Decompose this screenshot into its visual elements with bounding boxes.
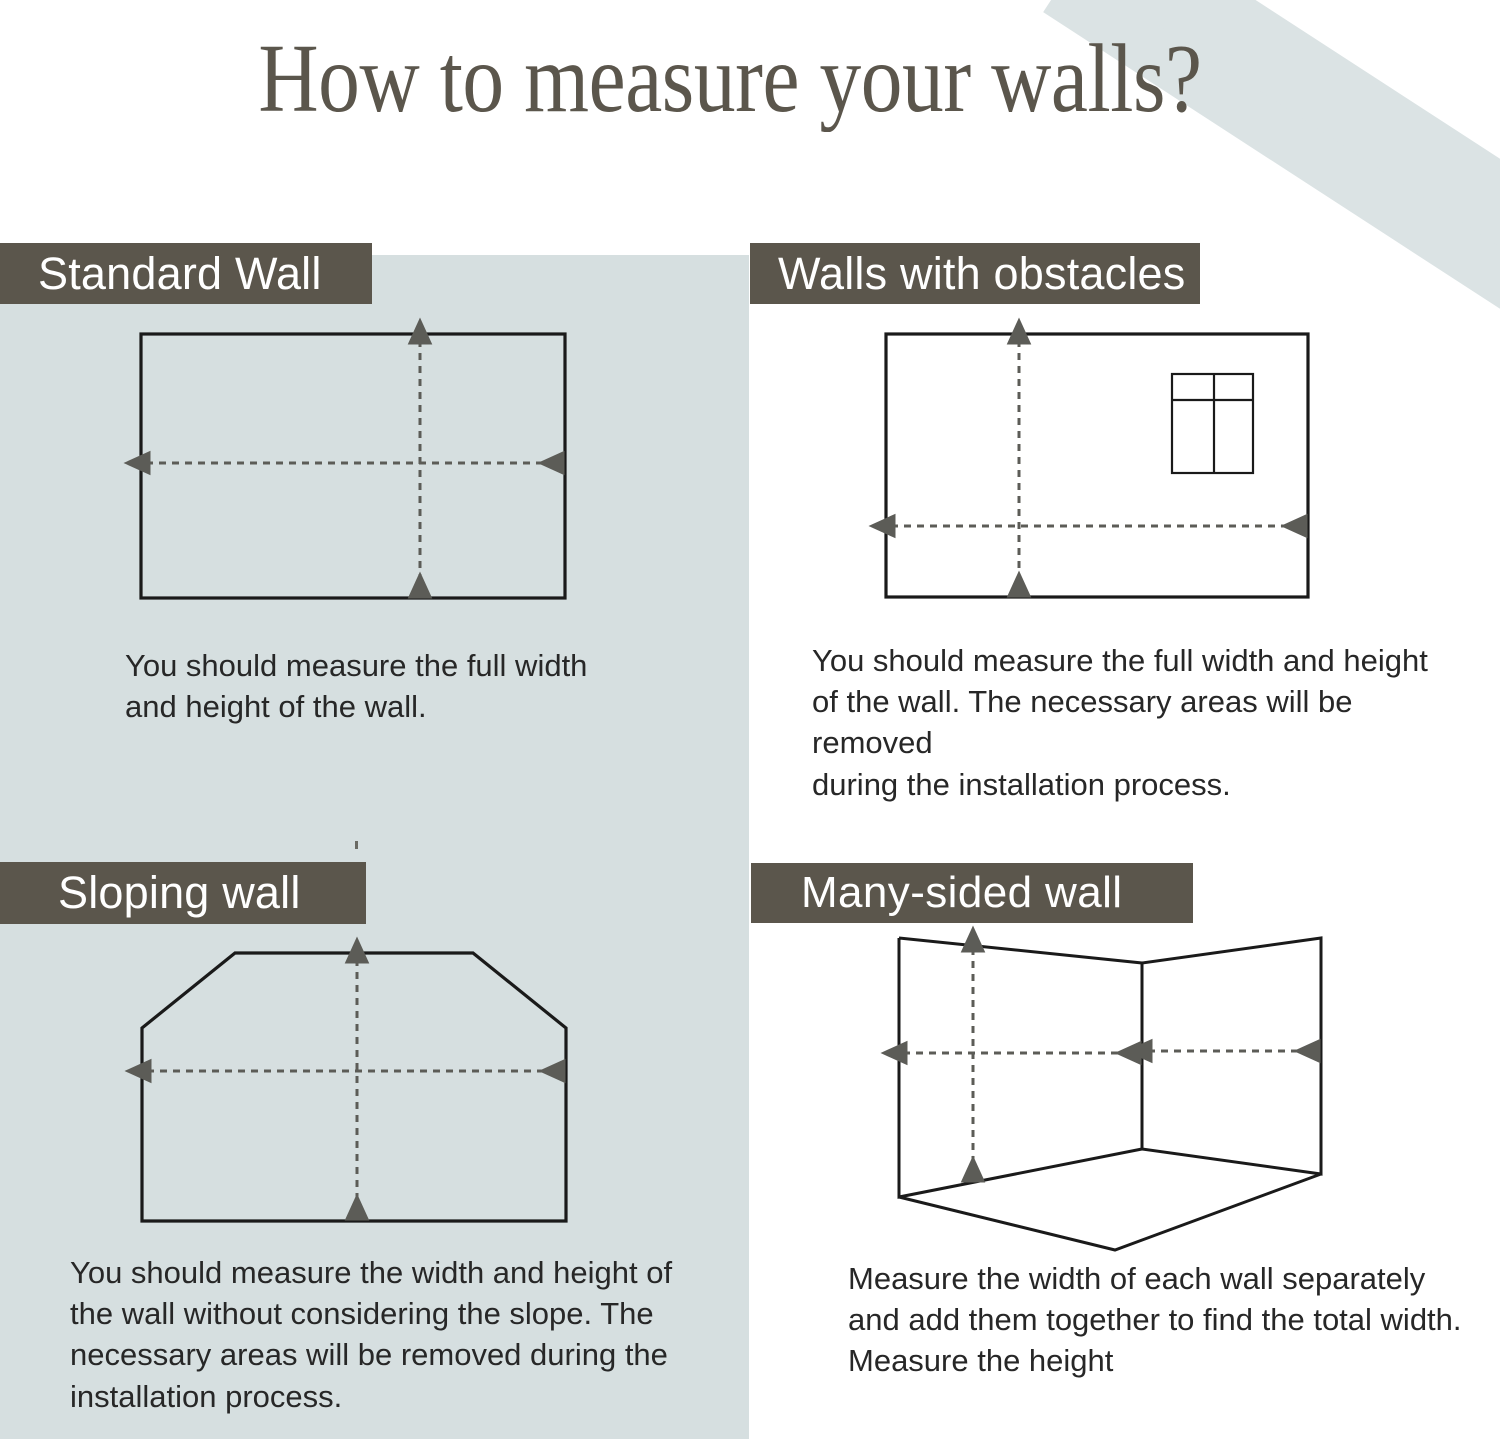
caption-sloping-wall: You should measure the width and height … xyxy=(70,1252,690,1417)
corner-room-outline xyxy=(899,938,1321,1250)
caption-standard-wall: You should measure the full width and he… xyxy=(125,645,665,727)
caption-many-sided-wall: Measure the width of each wall separatel… xyxy=(848,1258,1468,1382)
section-header-many-sided-wall: Many-sided wall xyxy=(751,863,1193,923)
infographic-canvas: How to measure your walls? Standard Wall… xyxy=(0,0,1500,1439)
section-header-many-sided-wall-label: Many-sided wall xyxy=(801,868,1122,918)
section-header-walls-with-obstacles-label: Walls with obstacles xyxy=(778,248,1185,300)
caption-walls-with-obstacles: You should measure the full width and he… xyxy=(812,640,1472,805)
stray-tick-mark xyxy=(355,841,358,849)
section-header-walls-with-obstacles: Walls with obstacles xyxy=(750,243,1200,304)
section-header-standard-wall: Standard Wall xyxy=(0,243,372,304)
section-header-standard-wall-label: Standard Wall xyxy=(38,248,322,300)
section-header-sloping-wall-label: Sloping wall xyxy=(58,867,301,919)
section-header-sloping-wall: Sloping wall xyxy=(0,862,366,924)
